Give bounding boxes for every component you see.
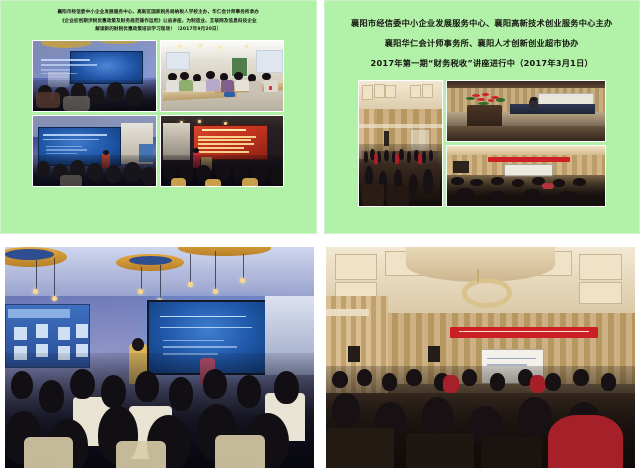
photo-classroom-attendees [160,40,285,112]
left-caption-line-2: 《企业初创期涉税优惠政策及财务规范操作运用》公益讲座，为制造业、互联网及信息科技… [12,18,305,27]
photo-blue-screen-lecture [32,40,157,112]
photo-red-screen-lecture [160,115,285,187]
left-caption-line-1: 襄阳市经信委中小企业发展服务中心、高新区国家税务局纳税人学校主办，华仁会计师事务… [12,9,305,18]
photo-podium-flowers [446,80,606,142]
right-caption-line-3: 2017年第一期“财务税收”讲座进行中（2017年3月1日） [334,53,631,73]
right-caption-line-1: 襄阳市经信委中小企业发展服务中心、襄阳高新技术创业服务中心主办 [334,13,631,33]
right-poster: 襄阳市经信委中小企业发展服务中心、襄阳高新技术创业服务中心主办 襄阳华仁会计师事… [324,0,640,234]
right-poster-caption: 襄阳市经信委中小企业发展服务中心、襄阳高新技术创业服务中心主办 襄阳华仁会计师事… [328,4,637,77]
photo-wood-hall-banner [446,145,606,207]
left-poster: 襄阳市经信委中小企业发展服务中心、高新区国家税务局纳税人学校主办，华仁会计师事务… [0,0,317,234]
right-poster-photo-grid [358,80,606,207]
left-poster-caption: 襄阳市经信委中小企业发展服务中心、高新区国家税务局纳税人学校主办，华仁会计师事务… [4,4,313,38]
bottom-photo-row [0,246,640,469]
collage-page: 襄阳市经信委中小企业发展服务中心、高新区国家税务局纳税人学校主办，华仁会计师事务… [0,0,640,469]
photo-conference-hall-wide [358,80,443,207]
left-poster-photo-grid [32,40,284,187]
left-caption-line-3: 解读新的财税优惠政策培训学习现场！（2017年9月20日） [12,26,305,35]
top-poster-row: 襄阳市经信委中小企业发展服务中心、高新区国家税务局纳税人学校主办，华仁会计师事务… [0,0,640,234]
photo-seminar-room-blue-screen [4,246,315,469]
photo-blue-screen-speaker [32,115,157,187]
right-caption-line-2: 襄阳华仁会计师事务所、襄阳人才创新创业超市协办 [334,33,631,53]
photo-conference-hall-red-banner [325,246,636,469]
